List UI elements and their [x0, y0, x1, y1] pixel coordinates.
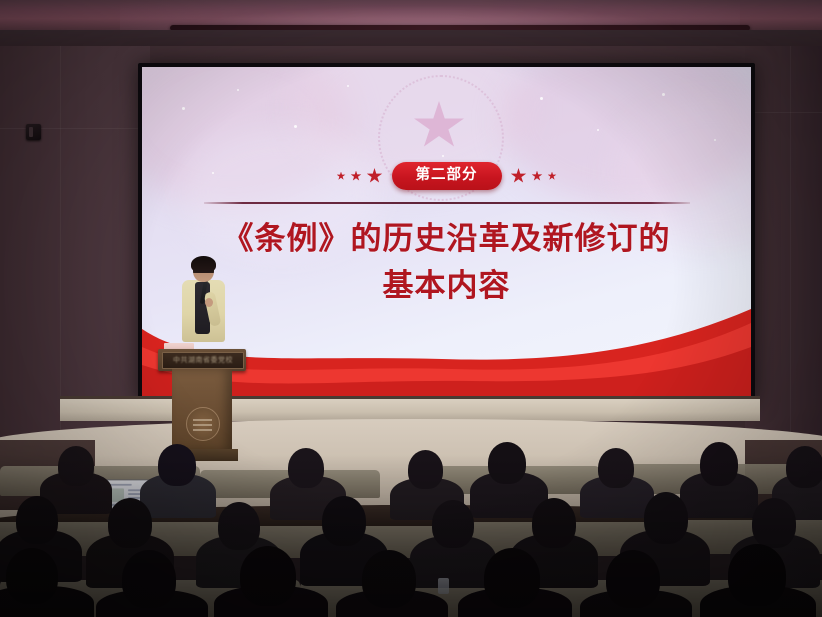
slide-divider — [204, 202, 690, 204]
slide-speck — [540, 97, 543, 100]
star-icon — [367, 168, 383, 184]
podium-nameplate-text: 中共湖南省委党校 — [163, 355, 243, 365]
audience-head — [432, 500, 474, 548]
audience-head — [240, 546, 296, 606]
presenter-hair — [191, 256, 216, 273]
stars-left — [337, 168, 383, 184]
stars-right — [511, 168, 557, 184]
slide-speck — [237, 89, 239, 91]
slide-speck — [294, 125, 297, 128]
slide-speck — [347, 85, 349, 87]
audience-head — [484, 548, 540, 608]
audience-head — [58, 446, 94, 486]
audience-head — [108, 498, 152, 548]
auditorium-photo: 第二部分 《条例》的历史沿革及新修订的 基本内容 — [0, 0, 822, 617]
audience-head — [362, 550, 416, 608]
audience-head — [728, 544, 786, 606]
audience-head — [158, 444, 196, 486]
audience-head — [644, 492, 688, 544]
wall-seam — [0, 128, 140, 129]
audience-head — [6, 548, 58, 604]
audience-head — [288, 448, 324, 488]
wall-seam — [790, 46, 791, 446]
audience-head — [322, 496, 366, 546]
slide-speck — [662, 93, 665, 96]
slide-title-line1: 《条例》的历史沿革及新修订的 — [162, 215, 731, 262]
section-badge: 第二部分 — [392, 162, 502, 190]
audience-head — [122, 550, 176, 608]
star-icon — [351, 171, 362, 182]
star-icon — [337, 172, 346, 181]
audience — [0, 430, 822, 617]
star-icon — [511, 168, 527, 184]
audience-head — [606, 550, 660, 608]
wall-seam — [745, 112, 822, 113]
audience-head — [488, 442, 526, 484]
presenter-hand — [205, 298, 213, 307]
slide-title: 《条例》的历史沿革及新修订的 基本内容 — [162, 215, 731, 309]
star-icon — [532, 171, 543, 182]
audience-head — [218, 502, 260, 550]
stage-riser — [60, 399, 760, 421]
audience-head — [532, 498, 576, 548]
podium-nameplate: 中共湖南省委党校 — [162, 352, 244, 369]
slide-speck — [182, 107, 185, 110]
section-badge-row: 第二部分 — [142, 159, 751, 193]
audience-head — [16, 496, 58, 544]
presenter — [180, 258, 226, 354]
star-icon — [548, 172, 557, 181]
slide-speck — [714, 139, 716, 141]
audience-head — [786, 446, 822, 488]
audience-head — [408, 450, 443, 489]
slide-speck — [597, 129, 599, 131]
audience-head — [598, 448, 634, 488]
wall-speaker-icon — [26, 124, 41, 140]
audience-phone — [438, 578, 449, 594]
audience-head — [752, 498, 796, 548]
audience-head — [700, 442, 738, 486]
